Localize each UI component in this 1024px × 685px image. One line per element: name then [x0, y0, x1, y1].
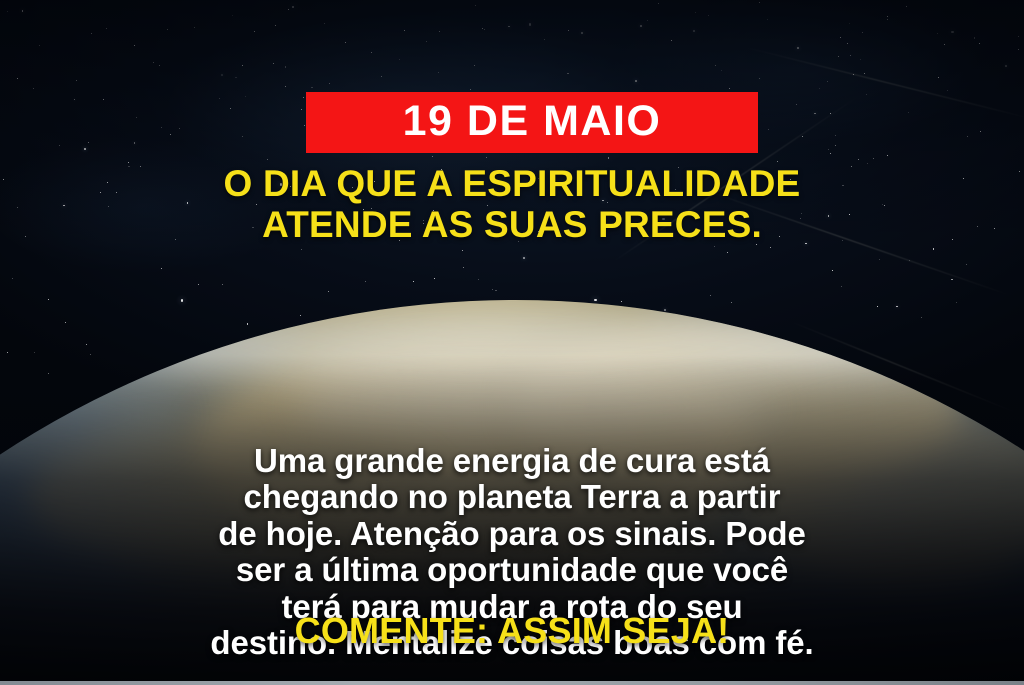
poster: 19 DE MAIO O DIA QUE A ESPIRITUALIDADE A… — [0, 0, 1024, 685]
body-line-2: chegando no planeta Terra a partir — [0, 479, 1024, 515]
poster-content: 19 DE MAIO O DIA QUE A ESPIRITUALIDADE A… — [0, 0, 1024, 685]
body-line-1: Uma grande energia de cura está — [0, 443, 1024, 479]
headline: O DIA QUE A ESPIRITUALIDADE ATENDE AS SU… — [0, 163, 1024, 245]
date-banner: 19 DE MAIO — [306, 92, 758, 153]
body-line-3: de hoje. Atenção para os sinais. Pode — [0, 516, 1024, 552]
headline-line-1: O DIA QUE A ESPIRITUALIDADE — [0, 163, 1024, 204]
body-line-4: ser a última oportunidade que você — [0, 552, 1024, 588]
call-to-action-text: COMENTE: ASSIM SEJA! — [0, 613, 1024, 649]
headline-line-2: ATENDE AS SUAS PRECES. — [0, 204, 1024, 245]
date-banner-text: 19 DE MAIO — [403, 100, 662, 143]
